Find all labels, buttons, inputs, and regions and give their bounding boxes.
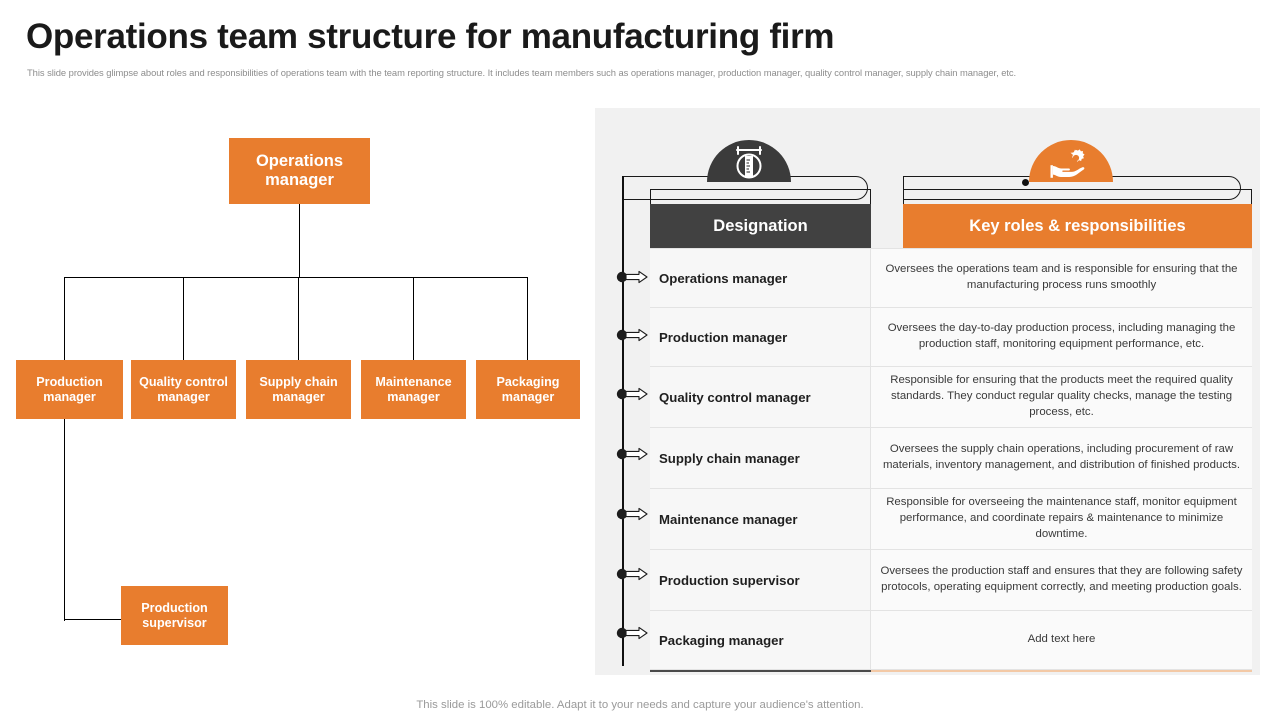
- cell-role-description: Responsible for overseeing the maintenan…: [871, 489, 1252, 549]
- rail-marker-arrow-icon: [616, 387, 652, 401]
- roles-panel: Designation Key roles & responsibilities…: [595, 108, 1260, 675]
- org-node-label: Packaging manager: [476, 375, 580, 405]
- rail-connector-line: [622, 176, 624, 666]
- table-row[interactable]: Production supervisorOversees the produc…: [650, 550, 1252, 611]
- cell-role-description: Responsible for ensuring that the produc…: [871, 367, 1252, 427]
- measuring-gauge-icon: [707, 140, 791, 182]
- table-row[interactable]: Maintenance managerResponsible for overs…: [650, 489, 1252, 550]
- cell-designation: Production supervisor: [650, 550, 871, 610]
- table-row[interactable]: Production managerOversees the day-to-da…: [650, 308, 1252, 367]
- rail-marker-arrow-icon: [616, 507, 652, 521]
- org-node-maintenance-manager[interactable]: Maintenance manager: [361, 360, 466, 419]
- rail-marker-arrow-icon: [616, 626, 652, 640]
- org-connector-drop-3: [298, 277, 299, 360]
- hand-holding-gear-icon: [1029, 140, 1113, 182]
- table-bottom-rule-orange: [871, 670, 1252, 672]
- org-connector-drop-2: [183, 277, 184, 360]
- org-node-production-manager[interactable]: Production manager: [16, 360, 123, 419]
- rail-marker-arrow-icon: [616, 567, 652, 581]
- cell-designation: Maintenance manager: [650, 489, 871, 549]
- cell-role-description: Oversees the production staff and ensure…: [871, 550, 1252, 610]
- org-node-label: Production manager: [16, 375, 123, 405]
- org-connector-root-vertical: [299, 204, 300, 277]
- table-row[interactable]: Operations managerOversees the operation…: [650, 248, 1252, 308]
- column-header-roles: Key roles & responsibilities: [903, 204, 1252, 248]
- org-chart: Operations manager Production manager Qu…: [0, 100, 595, 670]
- cell-role-description: Oversees the supply chain operations, in…: [871, 428, 1252, 488]
- column-header-label: Key roles & responsibilities: [969, 217, 1185, 236]
- rail-marker-arrow-icon: [616, 270, 652, 284]
- rail-marker-arrow-icon: [616, 328, 652, 342]
- cell-designation: Quality control manager: [650, 367, 871, 427]
- table-row[interactable]: Packaging managerAdd text here: [650, 611, 1252, 670]
- org-node-production-supervisor[interactable]: Production supervisor: [121, 586, 228, 645]
- org-node-quality-control-manager[interactable]: Quality control manager: [131, 360, 236, 419]
- page-title: Operations team structure for manufactur…: [26, 18, 834, 57]
- org-node-packaging-manager[interactable]: Packaging manager: [476, 360, 580, 419]
- cell-role-description: Add text here: [871, 611, 1252, 669]
- table-row[interactable]: Quality control managerResponsible for e…: [650, 367, 1252, 428]
- page-subtitle: This slide provides glimpse about roles …: [27, 66, 1242, 80]
- org-connector-drop-1: [64, 277, 65, 360]
- org-connector-supervisor-horizontal: [64, 619, 121, 620]
- cell-designation: Production manager: [650, 308, 871, 366]
- cell-designation: Operations manager: [650, 249, 871, 307]
- org-connector-supervisor-vertical: [64, 419, 65, 621]
- org-node-label: Production supervisor: [121, 601, 228, 631]
- table-row[interactable]: Supply chain managerOversees the supply …: [650, 428, 1252, 489]
- column-header-designation: Designation: [650, 204, 871, 248]
- cell-designation: Supply chain manager: [650, 428, 871, 488]
- table-bottom-rule-dark: [650, 670, 871, 672]
- column-header-label: Designation: [713, 217, 807, 236]
- org-node-operations-manager[interactable]: Operations manager: [229, 138, 370, 204]
- cell-designation: Packaging manager: [650, 611, 871, 669]
- org-connector-drop-4: [413, 277, 414, 360]
- org-node-label: Quality control manager: [131, 375, 236, 405]
- cell-role-description: Oversees the day-to-day production proce…: [871, 308, 1252, 366]
- org-node-label: Supply chain manager: [246, 375, 351, 405]
- org-node-supply-chain-manager[interactable]: Supply chain manager: [246, 360, 351, 419]
- footer-note: This slide is 100% editable. Adapt it to…: [0, 699, 1280, 711]
- rail-marker-arrow-icon: [616, 447, 652, 461]
- org-connector-horizontal-bus: [64, 277, 528, 278]
- roles-frame-dot: [1022, 179, 1029, 186]
- org-node-label: Operations manager: [229, 152, 370, 191]
- cell-role-description: Oversees the operations team and is resp…: [871, 249, 1252, 307]
- org-node-label: Maintenance manager: [361, 375, 466, 405]
- org-connector-drop-5: [527, 277, 528, 360]
- roles-table: Operations managerOversees the operation…: [650, 248, 1252, 670]
